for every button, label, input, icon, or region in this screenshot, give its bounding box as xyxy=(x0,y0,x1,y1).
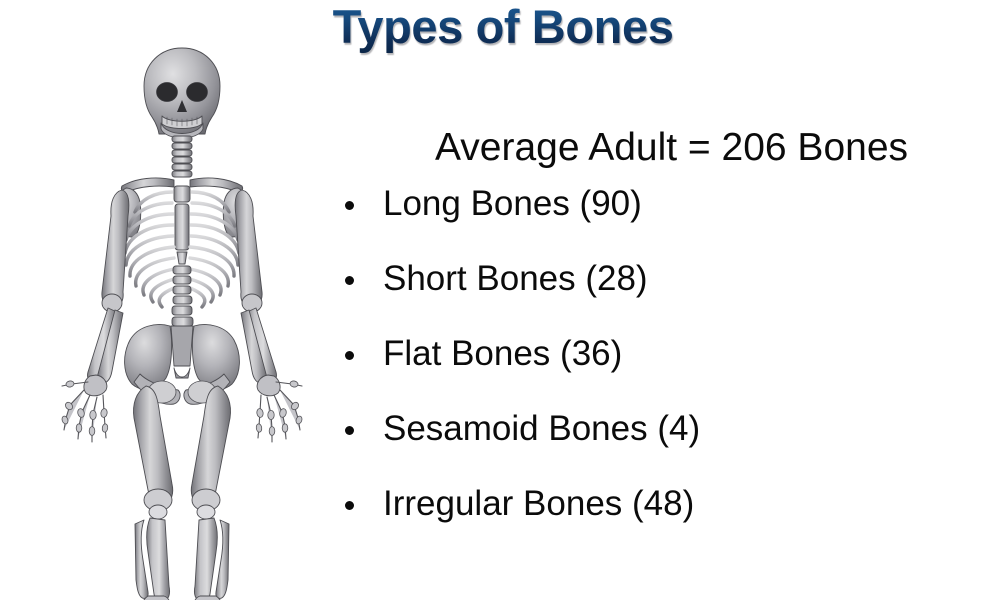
cervical-spine xyxy=(172,136,192,177)
right-arm xyxy=(235,190,303,442)
bullet-dot-icon xyxy=(345,501,354,510)
list-item-label: Short Bones (28) xyxy=(383,259,648,298)
list-item: Long Bones (90) xyxy=(345,184,990,224)
bullet-dot-icon xyxy=(345,201,354,210)
lumbar-spine xyxy=(172,266,193,326)
left-leg xyxy=(128,386,178,600)
slide-canvas: Types of Bones xyxy=(0,0,1000,605)
bullet-dot-icon xyxy=(345,351,354,360)
list-item-label: Sesamoid Bones (4) xyxy=(383,409,700,448)
list-item-label: Irregular Bones (48) xyxy=(383,484,694,523)
list-item-label: Flat Bones (36) xyxy=(383,334,622,373)
left-arm xyxy=(61,190,129,442)
skeleton-illustration xyxy=(22,20,342,600)
list-item: Flat Bones (36) xyxy=(345,334,990,374)
content-text-block: Average Adult = 206 Bones Long Bones (90… xyxy=(345,126,990,581)
list-item: Irregular Bones (48) xyxy=(345,484,990,524)
bullet-dot-icon xyxy=(345,426,354,435)
sternum xyxy=(174,186,190,264)
right-leg xyxy=(186,386,236,600)
list-item: Short Bones (28) xyxy=(345,259,990,299)
headline-total-bones: Average Adult = 206 Bones xyxy=(345,126,990,170)
list-item: Sesamoid Bones (4) xyxy=(345,409,990,449)
skull xyxy=(144,48,220,138)
bullet-dot-icon xyxy=(345,276,354,285)
bone-types-list: Long Bones (90) Short Bones (28) Flat Bo… xyxy=(345,184,990,524)
list-item-label: Long Bones (90) xyxy=(383,184,642,223)
